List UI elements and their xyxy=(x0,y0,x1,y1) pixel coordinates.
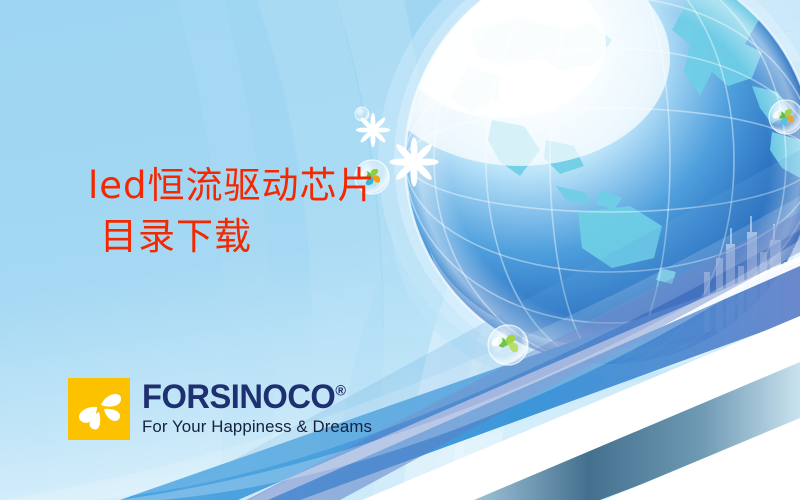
headline-text: led恒流驱动芯片 目录下载 xyxy=(88,162,376,262)
headline-line-1: led恒流驱动芯片 xyxy=(88,162,376,211)
brand-name: FORSINOCO® xyxy=(142,380,365,414)
banner-canvas: led恒流驱动芯片 目录下载 FORSINOCO® For Your Happi… xyxy=(0,0,800,500)
brand-tagline: For Your Happiness & Dreams xyxy=(142,417,372,436)
headline-line-2: 目录下载 xyxy=(100,213,376,262)
company-logo: FORSINOCO® For Your Happiness & Dreams xyxy=(68,378,374,440)
registered-trademark-icon: ® xyxy=(335,383,345,400)
logo-wordmark: FORSINOCO® For Your Happiness & Dreams xyxy=(142,378,374,436)
forsinoco-pinwheel-mark xyxy=(68,378,130,440)
brand-name-text: FORSINOCO xyxy=(142,378,335,416)
